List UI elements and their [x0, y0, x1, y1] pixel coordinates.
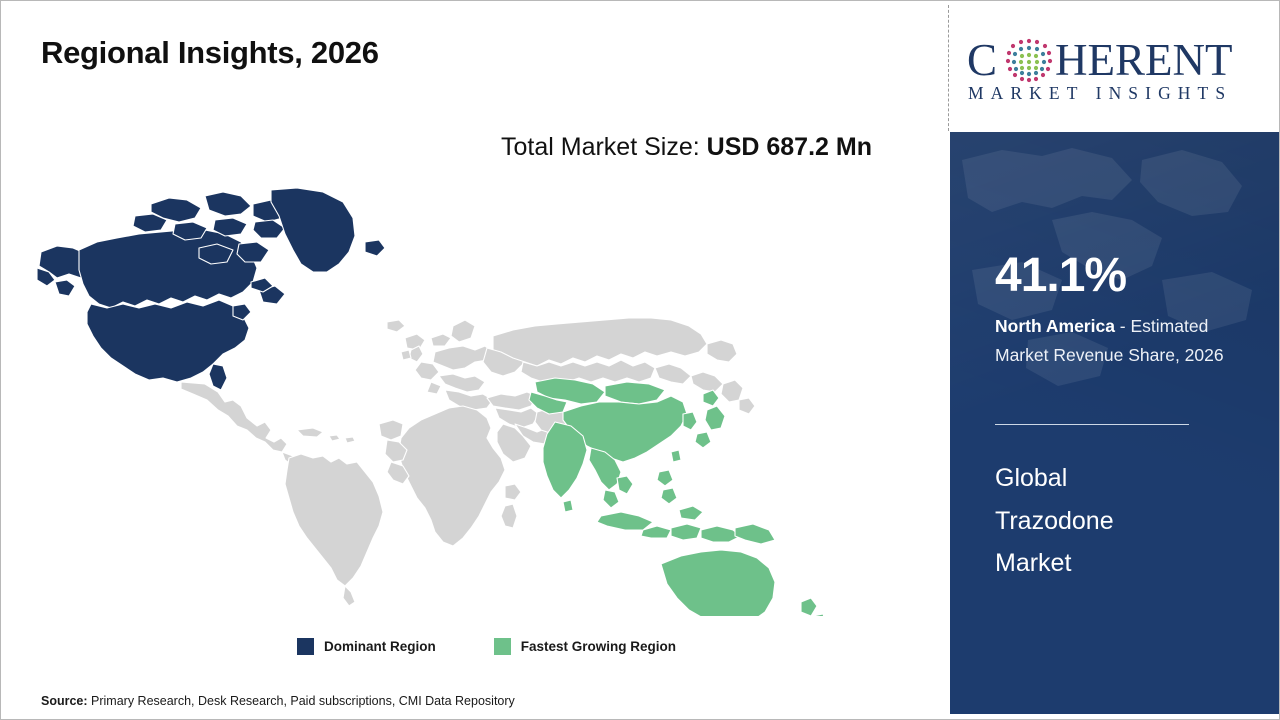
legend-item-dominant: Dominant Region: [297, 638, 436, 655]
market-name-line-1: Global: [995, 457, 1245, 500]
map-region-dominant: [37, 188, 385, 390]
map-legend: Dominant Region Fastest Growing Region: [297, 638, 676, 655]
stat-panel-content: 41.1% North America - Estimated Market R…: [995, 132, 1265, 714]
market-name-line-2: Trazodone: [995, 500, 1245, 543]
logo-letter-c: C: [967, 35, 997, 85]
total-market-size-label: Total Market Size:: [501, 133, 707, 161]
source-text: Primary Research, Desk Research, Paid su…: [88, 694, 515, 708]
coherent-market-insights-logo: C: [967, 31, 1263, 103]
logo-letters-herent: HERENT: [1055, 35, 1232, 85]
map-region-fastest-growing: [529, 378, 827, 616]
legend-item-fastest-growing: Fastest Growing Region: [494, 638, 676, 655]
globe-icon: [1006, 38, 1052, 81]
legend-swatch-fastest-growing: [494, 638, 511, 655]
logo-tagline: MARKET INSIGHTS: [968, 83, 1232, 103]
stat-value: 41.1%: [995, 252, 1126, 300]
stat-caption: North America - Estimated Market Revenue…: [995, 312, 1263, 369]
legend-swatch-dominant: [297, 638, 314, 655]
map-section: Regional Insights, 2026 Total Market Siz…: [1, 1, 949, 719]
vertical-dashed-divider: [948, 5, 949, 131]
stat-panel: 41.1% North America - Estimated Market R…: [950, 132, 1280, 714]
world-map-svg: [35, 186, 835, 616]
total-market-size-value: USD 687.2 Mn: [707, 133, 872, 161]
world-map: [35, 186, 835, 616]
stat-region-name: North America: [995, 316, 1115, 336]
market-name: Global Trazodone Market: [995, 457, 1245, 585]
panel-divider-rule: [995, 424, 1189, 425]
infographic-page: Regional Insights, 2026 Total Market Siz…: [0, 0, 1280, 720]
logo-svg: C: [967, 31, 1263, 103]
legend-label-dominant: Dominant Region: [324, 639, 436, 654]
brand-logo-container: C: [950, 1, 1280, 132]
market-name-line-3: Market: [995, 542, 1245, 585]
page-title: Regional Insights, 2026: [41, 35, 379, 71]
source-label: Source:: [41, 694, 88, 708]
legend-label-fastest-growing: Fastest Growing Region: [521, 639, 676, 654]
total-market-size: Total Market Size: USD 687.2 Mn: [501, 127, 913, 167]
source-note: Source: Primary Research, Desk Research,…: [41, 694, 515, 708]
